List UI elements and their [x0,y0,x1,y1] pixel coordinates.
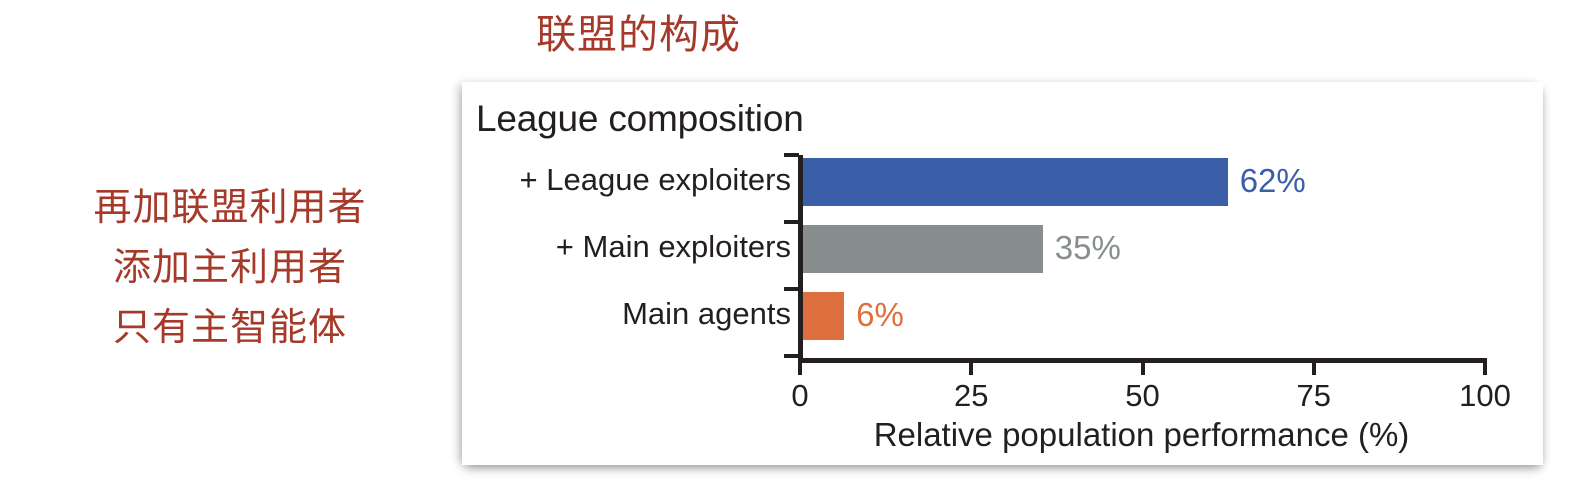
y-axis-label-main-exploiters: + Main exploiters [556,223,791,271]
y-axis-label-league-exploiters: + League exploiters [520,156,791,204]
annotation-group: 再加联盟利用者 添加主利用者 只有主智能体 [60,178,400,358]
x-axis-tick-label: 0 [791,378,808,414]
bar-league-exploiters [803,158,1228,206]
x-axis-tick-label: 50 [1125,378,1159,414]
x-axis-tick-label: 100 [1459,378,1511,414]
annotation-line-main-agents: 只有主智能体 [60,298,400,358]
x-axis-tick [798,358,802,375]
annotation-line-main-exploiters: 添加主利用者 [60,238,400,298]
x-axis-title: Relative population performance (%) [798,416,1485,454]
x-axis-tick [1141,358,1145,375]
slide-canvas: 联盟的构成 再加联盟利用者 添加主利用者 只有主智能体 League compo… [0,0,1576,488]
x-axis-tick-label: 25 [954,378,988,414]
x-axis-tick-label: 75 [1297,378,1331,414]
bar-chart-plot: + League exploiters + Main exploiters Ma… [462,82,1543,465]
bar-value-league-exploiters: 62% [1240,162,1306,200]
figure-card: League composition + League exploiters +… [462,82,1543,465]
x-axis-tick [969,358,973,375]
bar-main-agents [803,292,844,340]
bar-main-exploiters [803,225,1043,273]
x-axis-tick [1483,358,1487,375]
y-axis-label-main-agents: Main agents [622,290,791,338]
bar-value-main-agents: 6% [856,296,904,334]
x-axis-tick [1312,358,1316,375]
annotation-line-league-exploiters: 再加联盟利用者 [60,178,400,238]
bar-value-main-exploiters: 35% [1055,229,1121,267]
y-axis-tick [784,354,799,358]
slide-heading: 联盟的构成 [536,11,741,60]
